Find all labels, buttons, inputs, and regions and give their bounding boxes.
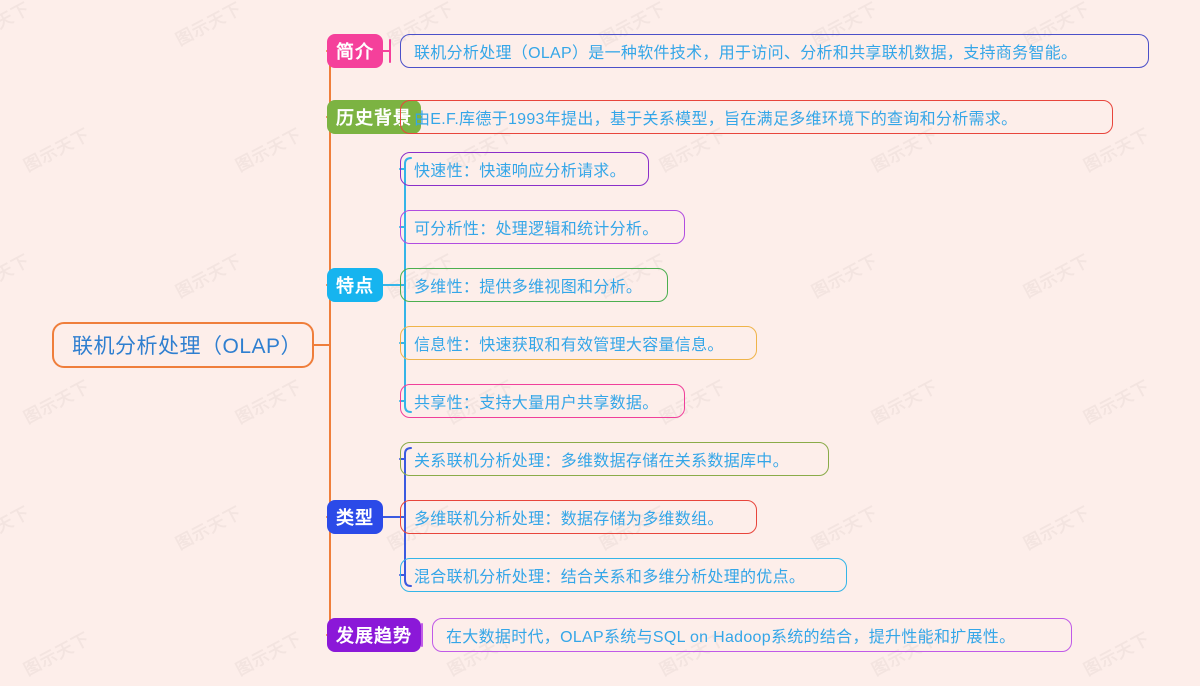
leaf-node[interactable]: 多维性：提供多维视图和分析。 xyxy=(400,268,668,302)
leaf-node[interactable]: 联机分析处理（OLAP）是一种软件技术，用于访问、分析和共享联机数据，支持商务智… xyxy=(400,34,1149,68)
leaf-node[interactable]: 多维联机分析处理：数据存储为多维数组。 xyxy=(400,500,757,534)
leaf-node-label: 由E.F.库德于1993年提出，基于关系模型，旨在满足多维环境下的查询和分析需求… xyxy=(414,105,1017,129)
leaf-node-label: 共享性：支持大量用户共享数据。 xyxy=(414,389,659,413)
leaf-node[interactable]: 关系联机分析处理：多维数据存储在关系数据库中。 xyxy=(400,442,829,476)
root-node-label: 联机分析处理（OLAP） xyxy=(72,330,302,360)
branch-chip-label: 特点 xyxy=(336,272,374,298)
leaf-node[interactable]: 信息性：快速获取和有效管理大容量信息。 xyxy=(400,326,757,360)
leaf-node[interactable]: 可分析性：处理逻辑和统计分析。 xyxy=(400,210,685,244)
leaf-node-label: 信息性：快速获取和有效管理大容量信息。 xyxy=(414,331,724,355)
mindmap-canvas: 联机分析处理（OLAP） 简介 历史背景 特点 类型 发展趋势 联机分析处理（O… xyxy=(0,0,1200,686)
branch-chip-label: 类型 xyxy=(336,504,374,530)
leaf-node-label: 混合联机分析处理：结合关系和多维分析处理的优点。 xyxy=(414,563,805,587)
leaf-node[interactable]: 快速性：快速响应分析请求。 xyxy=(400,152,649,186)
leaf-node[interactable]: 由E.F.库德于1993年提出，基于关系模型，旨在满足多维环境下的查询和分析需求… xyxy=(400,100,1113,134)
leaf-node[interactable]: 混合联机分析处理：结合关系和多维分析处理的优点。 xyxy=(400,558,847,592)
branch-chip-leixing[interactable]: 类型 xyxy=(327,500,383,534)
leaf-node-label: 快速性：快速响应分析请求。 xyxy=(414,157,626,181)
leaf-node-label: 多维性：提供多维视图和分析。 xyxy=(414,273,642,297)
branch-chip-fazhanqushi[interactable]: 发展趋势 xyxy=(327,618,421,652)
leaf-node-label: 多维联机分析处理：数据存储为多维数组。 xyxy=(414,505,724,529)
leaf-node[interactable]: 在大数据时代，OLAP系统与SQL on Hadoop系统的结合，提升性能和扩展… xyxy=(432,618,1072,652)
branch-chip-jianjie[interactable]: 简介 xyxy=(327,34,383,68)
leaf-node[interactable]: 共享性：支持大量用户共享数据。 xyxy=(400,384,685,418)
branch-chip-tedian[interactable]: 特点 xyxy=(327,268,383,302)
leaf-node-label: 可分析性：处理逻辑和统计分析。 xyxy=(414,215,659,239)
leaf-node-label: 在大数据时代，OLAP系统与SQL on Hadoop系统的结合，提升性能和扩展… xyxy=(446,623,1015,647)
leaf-node-label: 联机分析处理（OLAP）是一种软件技术，用于访问、分析和共享联机数据，支持商务智… xyxy=(414,39,1077,63)
leaf-node-label: 关系联机分析处理：多维数据存储在关系数据库中。 xyxy=(414,447,789,471)
branch-chip-label: 发展趋势 xyxy=(336,622,412,648)
branch-chip-label: 简介 xyxy=(336,38,374,64)
root-node[interactable]: 联机分析处理（OLAP） xyxy=(52,322,314,368)
